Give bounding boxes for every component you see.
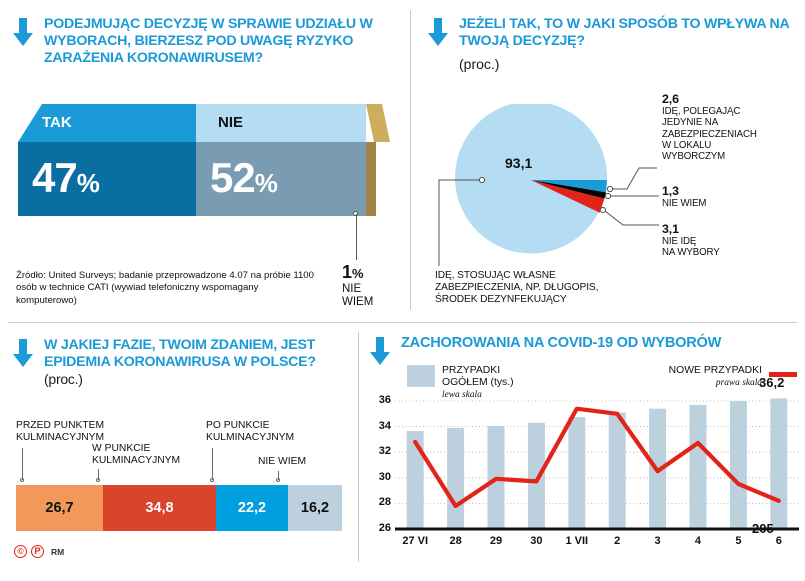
panel2-title: JEŻELI TAK, TO W JAKI SPOSÓB TO WPŁYWA N… [459,16,795,50]
left-axis-tick: 30 [369,471,391,483]
legend-swatch-bar [407,365,435,387]
panel2-unit: (proc.) [459,56,795,72]
pie-callout-1-3-value: 1,3 [662,184,782,198]
x-axis-tick: 4 [678,535,718,547]
legend-scale-new-cases: prawa skala [716,378,762,388]
pie-callout-2-6-text: IDĘ, POLEGAJĄC JEDYNIE NA ZABEZPIECZENIA… [662,106,757,162]
x-axis-tick: 3 [637,535,677,547]
phase-tick-po-punkcie [212,448,213,480]
bar-value-tak-suffix: % [77,168,99,198]
panel3-title-text: W JAKIEJ FAZIE, TWOIM ZDANIEM, JEST EPID… [44,337,316,370]
bar-segment-niewiem-front [366,142,376,216]
panel1-header: PODEJMUJĄC DECYZJĘ W SPRAWIE UDZIAŁU W W… [0,0,410,67]
phase-tick-przed [22,448,23,480]
pie-chart [455,104,607,256]
arrow-down-icon [367,335,393,367]
panel3-unit: (proc.) [44,371,83,387]
phase-label-nie-wiem: NIE WIEM [258,456,348,468]
phase-segment-nie-wiem: 16,2 [288,485,342,531]
x-axis-tick: 29 [476,535,516,547]
legend-text-new-cases: NOWE PRZYPADKI prawa skala [669,365,762,389]
bar-value-nie-suffix: % [255,168,277,198]
pie-callout-3-1-value: 3,1 [662,222,782,236]
panel3-title: W JAKIEJ FAZIE, TWOIM ZDANIEM, JEST EPID… [44,337,348,389]
panel4-header: ZACHOROWANIA NA COVID-19 OD WYBORÓW [359,323,805,367]
arrow-down-icon [10,337,36,369]
arrow-down-icon [10,16,36,48]
x-axis-tick: 1 VII [557,535,597,547]
x-axis-tick: 28 [435,535,475,547]
bar-segment-niewiem-top [366,104,390,142]
x-axis-tick: 30 [516,535,556,547]
copyright-icon: © [14,545,27,558]
annotation-total-cases: 36,2 [759,375,784,390]
legend-item-total-cases: PRZYPADKI OGÓŁEM (tys.) lewa skala [407,365,514,401]
callout-niewiem-caption: NIE WIEM [342,283,402,309]
callout-niewiem-value: 1% [342,262,402,283]
arrow-down-icon [425,16,451,48]
phase-label-przed: PRZED PUNKTEM KULMINACYJNYM [16,420,146,444]
bar-label-tak: TAK [42,114,72,131]
phase-label-po-punkcie: PO PUNKCIE KULMINACYJNYM [206,420,326,444]
bar-value-nie-number: 52 [210,154,255,201]
chart-3d-stacked-bar: TAK NIE 47% 52% [18,104,390,216]
x-axis-tick: 27 VI [395,535,435,547]
phase-tick-w-punkcie [98,469,99,480]
panel4-title: ZACHOROWANIA NA COVID-19 OD WYBORÓW [401,335,721,367]
bar-value-tak-number: 47 [32,154,77,201]
chart-covid-combo: 26283032343615020025030035040027 VI28293… [395,397,799,547]
pie-callout-1-3-text: NIE WIEM [662,198,706,209]
annotation-new-cases: 205 [752,521,774,536]
panel-epidemic-phase: W JAKIEJ FAZIE, TWOIM ZDANIEM, JEST EPID… [0,323,358,581]
x-axis-tick: 5 [718,535,758,547]
x-axis-tick: 2 [597,535,637,547]
phase-value-w-punkcie: 34,8 [145,500,173,516]
pie-callout-93-1: IDĘ, STOSUJĄC WŁASNE ZABEZPIECZENIA, NP.… [435,270,695,307]
credit-initials: RM [51,547,64,557]
left-axis-tick: 26 [369,522,391,534]
bar-value-tak: 47% [32,154,99,202]
callout-niewiem: 1% NIE WIEM [342,262,402,309]
phase-segment-w-punkcie: 34,8 [103,485,216,531]
panel1-title: PODEJMUJĄC DECYZJĘ W SPRAWIE UDZIAŁU W W… [44,16,398,67]
pie-callout-2-6: 2,6 IDĘ, POLEGAJĄC JEDYNIE NA ZABEZPIECZ… [662,92,794,162]
panel-voting-decision: PODEJMUJĄC DECYZJĘ W SPRAWIE UDZIAŁU W W… [0,0,410,322]
callout-niewiem-suffix: % [352,266,364,281]
source-note: Źródło: United Surveys; badanie przeprow… [16,270,316,307]
published-icon: P [31,545,44,558]
phase-value-przed: 26,7 [45,500,73,516]
left-axis-tick: 34 [369,420,391,432]
legend-name-new-cases: NOWE PRZYPADKI [669,365,762,376]
pie-main-value: 93,1 [505,155,532,171]
phase-value-nie-wiem: 16,2 [301,500,329,516]
pie-callout-93-1-text: IDĘ, STOSUJĄC WŁASNE ZABEZPIECZENIA, NP.… [435,270,598,305]
panel-covid-cases: ZACHOROWANIA NA COVID-19 OD WYBORÓW PRZY… [359,323,805,581]
panel2-header: JEŻELI TAK, TO W JAKI SPOSÓB TO WPŁYWA N… [411,0,805,72]
chart-phase-stacked-bar: 26,7 34,8 22,2 16,2 [16,485,342,531]
left-axis-tick: 28 [369,496,391,508]
pie-callout-1-3: 1,3 NIE WIEM [662,184,782,209]
callout-line-niewiem [356,214,357,260]
pie-callout-3-1: 3,1 NIE IDĘ NA WYBORY [662,222,782,259]
pie-callout-2-6-value: 2,6 [662,92,794,106]
legend-name-total-cases: PRZYPADKI OGÓŁEM (tys.) [442,365,514,388]
panel-influence-pie: JEŻELI TAK, TO W JAKI SPOSÓB TO WPŁYWA N… [411,0,805,322]
callout-niewiem-number: 1 [342,262,352,282]
panel3-header: W JAKIEJ FAZIE, TWOIM ZDANIEM, JEST EPID… [0,323,358,389]
pie-callout-3-1-text: NIE IDĘ NA WYBORY [662,236,720,258]
left-axis-tick: 32 [369,445,391,457]
phase-value-po-punkcie: 22,2 [238,500,266,516]
bar-label-nie: NIE [218,114,243,131]
left-axis-tick: 36 [369,394,391,406]
bar-value-nie: 52% [210,154,277,202]
phase-label-w-punkcie: W PUNKCIE KULMINACYJNYM [92,443,222,467]
phase-segment-po-punkcie: 22,2 [216,485,288,531]
x-axis-tick: 6 [759,535,799,547]
publisher-logo: © P RM [14,545,64,558]
chart-legend: PRZYPADKI OGÓŁEM (tys.) lewa skala NOWE … [407,365,797,401]
phase-segment-przed: 26,7 [16,485,103,531]
infographic-page: PODEJMUJĄC DECYZJĘ W SPRAWIE UDZIAŁU W W… [0,0,805,581]
phase-tick-nie-wiem [278,471,279,480]
combo-chart-svg [395,397,799,547]
legend-text-total-cases: PRZYPADKI OGÓŁEM (tys.) lewa skala [442,365,514,401]
